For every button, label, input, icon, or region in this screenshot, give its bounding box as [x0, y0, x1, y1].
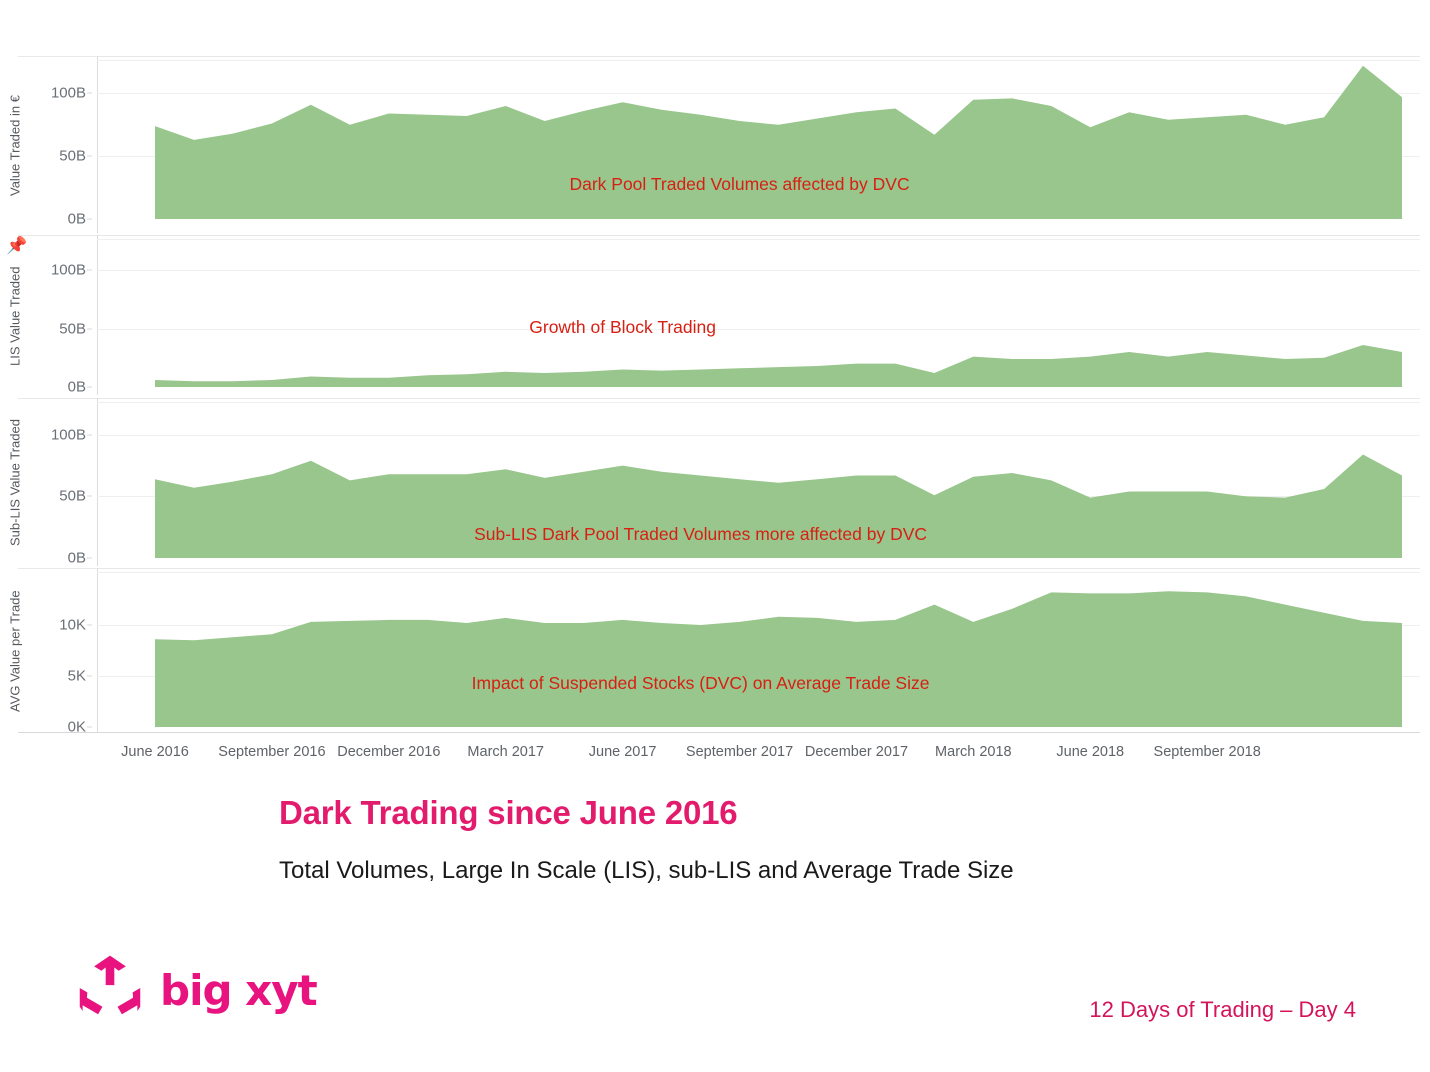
y-tick-mark — [87, 328, 92, 329]
y-tick-label: 100B — [51, 85, 86, 102]
x-axis-label: December 2017 — [805, 744, 908, 760]
y-tick-label: 100B — [51, 262, 86, 279]
x-axis-label: June 2017 — [589, 744, 657, 760]
y-axis-title-1: LIS Value Traded — [0, 241, 30, 391]
x-axis-line — [18, 732, 1420, 733]
pushpin-icon[interactable]: 📌 — [6, 237, 27, 254]
y-tick-label: 50B — [59, 320, 86, 337]
chart-annotation-2: Sub-LIS Dark Pool Traded Volumes more af… — [474, 524, 927, 545]
chart-panel-2: Sub-LIS Value Traded0B50B100BSub-LIS Dar… — [0, 398, 1430, 566]
chart-annotation-1: Growth of Block Trading — [529, 317, 716, 338]
x-axis-label: March 2018 — [935, 744, 1012, 760]
y-tick-mark — [87, 387, 92, 388]
y-tick-mark — [87, 270, 92, 271]
chart-panel-3: AVG Value per Trade0K5K10KImpact of Susp… — [0, 568, 1430, 732]
y-tick-label: 0B — [68, 550, 86, 567]
plot-area-3: Impact of Suspended Stocks (DVC) on Aver… — [97, 568, 1420, 732]
chart-annotation-3: Impact of Suspended Stocks (DVC) on Aver… — [472, 673, 930, 694]
y-tick-labels-0: 0B50B100B — [30, 56, 92, 233]
x-axis-label: December 2016 — [337, 744, 440, 760]
y-tick-mark — [87, 676, 92, 677]
plot-area-1: Growth of Block Trading — [97, 235, 1420, 395]
hexagon-arrows-icon — [74, 952, 146, 1029]
page-title: Dark Trading since June 2016 — [279, 794, 737, 832]
plot-area-2: Sub-LIS Dark Pool Traded Volumes more af… — [97, 398, 1420, 566]
y-tick-label: 100B — [51, 426, 86, 443]
y-tick-labels-2: 0B50B100B — [30, 398, 92, 566]
y-tick-mark — [87, 434, 92, 435]
x-axis-label: September 2017 — [686, 744, 793, 760]
area-polygon — [155, 66, 1402, 219]
y-tick-labels-1: 0B50B100B — [30, 235, 92, 395]
chart-panel-1: LIS Value Traded📌0B50B100BGrowth of Bloc… — [0, 235, 1430, 395]
footer-label: 12 Days of Trading – Day 4 — [1089, 997, 1356, 1023]
slide-root: Value Traded in €0B50B100BDark Pool Trad… — [0, 0, 1430, 1072]
y-axis-title-2: Sub-LIS Value Traded — [0, 404, 30, 562]
y-tick-mark — [87, 93, 92, 94]
y-tick-label: 50B — [59, 488, 86, 505]
x-axis: June 2016September 2016December 2016Marc… — [0, 732, 1430, 775]
page-subtitle: Total Volumes, Large In Scale (LIS), sub… — [279, 855, 1089, 887]
x-axis-label: June 2018 — [1056, 744, 1124, 760]
x-axis-label: September 2018 — [1154, 744, 1261, 760]
y-tick-mark — [87, 558, 92, 559]
y-tick-mark — [87, 496, 92, 497]
logo-wordmark: big xyt — [160, 970, 317, 1012]
chart-annotation-0: Dark Pool Traded Volumes affected by DVC — [569, 174, 909, 195]
y-tick-label: 0B — [68, 211, 86, 228]
chart-panel-0: Value Traded in €0B50B100BDark Pool Trad… — [0, 56, 1430, 233]
plot-area-0: Dark Pool Traded Volumes affected by DVC — [97, 56, 1420, 233]
area-series-3 — [97, 568, 1420, 732]
y-axis-title-0: Value Traded in € — [0, 62, 30, 229]
y-tick-labels-3: 0K5K10K — [30, 568, 92, 732]
brand-logo[interactable]: big xyt — [74, 952, 317, 1029]
y-tick-mark — [87, 156, 92, 157]
x-axis-label: March 2017 — [467, 744, 544, 760]
area-polygon — [155, 591, 1402, 727]
y-tick-mark — [87, 625, 92, 626]
y-tick-label: 5K — [68, 668, 86, 685]
y-axis-title-3: AVG Value per Trade — [0, 574, 30, 728]
y-tick-mark — [87, 727, 92, 728]
area-series-0 — [97, 56, 1420, 233]
y-tick-label: 0B — [68, 379, 86, 396]
y-tick-mark — [87, 219, 92, 220]
chart-block: Value Traded in €0B50B100BDark Pool Trad… — [0, 0, 1430, 775]
y-tick-label: 10K — [59, 617, 86, 634]
x-axis-label: September 2016 — [218, 744, 325, 760]
area-series-1 — [97, 235, 1420, 395]
x-axis-label: June 2016 — [121, 744, 189, 760]
y-tick-label: 50B — [59, 148, 86, 165]
area-polygon — [155, 345, 1402, 387]
